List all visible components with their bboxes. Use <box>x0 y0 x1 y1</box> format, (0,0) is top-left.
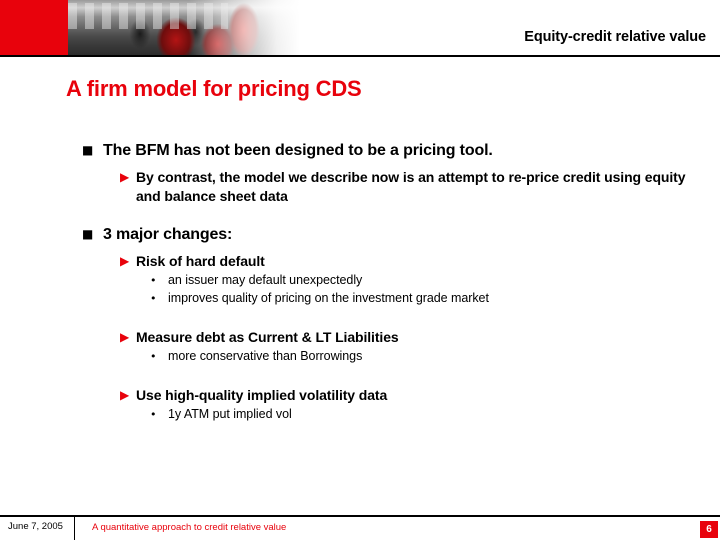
footer-date: June 7, 2005 <box>8 521 63 532</box>
bullet-level1: ■ The BFM has not been designed to be a … <box>0 140 720 161</box>
footer-vertical-divider <box>74 517 75 540</box>
bullet-level1-label: 3 major changes: <box>103 224 232 245</box>
bullet-level2-label: Use high-quality implied volatility data <box>136 386 387 405</box>
bullet-level3-label: 1y ATM put implied vol <box>168 406 292 423</box>
triangle-bullet-icon: ▶ <box>120 252 136 271</box>
bullet-level2: ▶ By contrast, the model we describe now… <box>0 168 720 206</box>
bullet-level2-label: By contrast, the model we describe now i… <box>136 168 706 206</box>
dot-bullet-icon: • <box>150 406 168 423</box>
bullet-level2: ▶ Measure debt as Current & LT Liabiliti… <box>0 328 720 347</box>
subsection-spacer <box>0 365 720 379</box>
bullet-level3-label: an issuer may default unexpectedly <box>168 272 362 289</box>
header-red-accent-block <box>0 0 68 55</box>
bullet-level3: • an issuer may default unexpectedly <box>0 272 720 289</box>
subsection-spacer <box>0 307 720 321</box>
square-bullet-icon: ■ <box>82 140 103 161</box>
bullet-level3: • 1y ATM put implied vol <box>0 406 720 423</box>
header-title: Equity-credit relative value <box>524 29 706 45</box>
bullet-level3: • more conservative than Borrowings <box>0 348 720 365</box>
bullet-level3-label: improves quality of pricing on the inves… <box>168 290 489 307</box>
bullet-level3-label: more conservative than Borrowings <box>168 348 362 365</box>
trading-floor-photo <box>68 0 300 55</box>
page-title: A firm model for pricing CDS <box>66 76 362 102</box>
page-number-badge: 6 <box>700 521 718 538</box>
photo-monitor-row <box>68 3 228 29</box>
bullet-level3: • improves quality of pricing on the inv… <box>0 290 720 307</box>
dot-bullet-icon: • <box>150 290 168 307</box>
triangle-bullet-icon: ▶ <box>120 168 136 187</box>
slide-body: ■ The BFM has not been designed to be a … <box>0 140 720 423</box>
footer-deck-title: A quantitative approach to credit relati… <box>92 522 286 533</box>
footer-divider-rule <box>0 515 720 517</box>
bullet-level2: ▶ Use high-quality implied volatility da… <box>0 386 720 405</box>
bullet-level2: ▶ Risk of hard default <box>0 252 720 271</box>
dot-bullet-icon: • <box>150 348 168 365</box>
bullet-level1-label: The BFM has not been designed to be a pr… <box>103 140 493 161</box>
slide-header-band: Equity-credit relative value <box>0 0 720 55</box>
section-spacer <box>0 206 720 224</box>
square-bullet-icon: ■ <box>82 224 103 245</box>
triangle-bullet-icon: ▶ <box>120 386 136 405</box>
header-divider-rule <box>0 55 720 57</box>
bullet-level2-label: Measure debt as Current & LT Liabilities <box>136 328 399 347</box>
bullet-level1: ■ 3 major changes: <box>0 224 720 245</box>
bullet-level2-label: Risk of hard default <box>136 252 265 271</box>
dot-bullet-icon: • <box>150 272 168 289</box>
triangle-bullet-icon: ▶ <box>120 328 136 347</box>
